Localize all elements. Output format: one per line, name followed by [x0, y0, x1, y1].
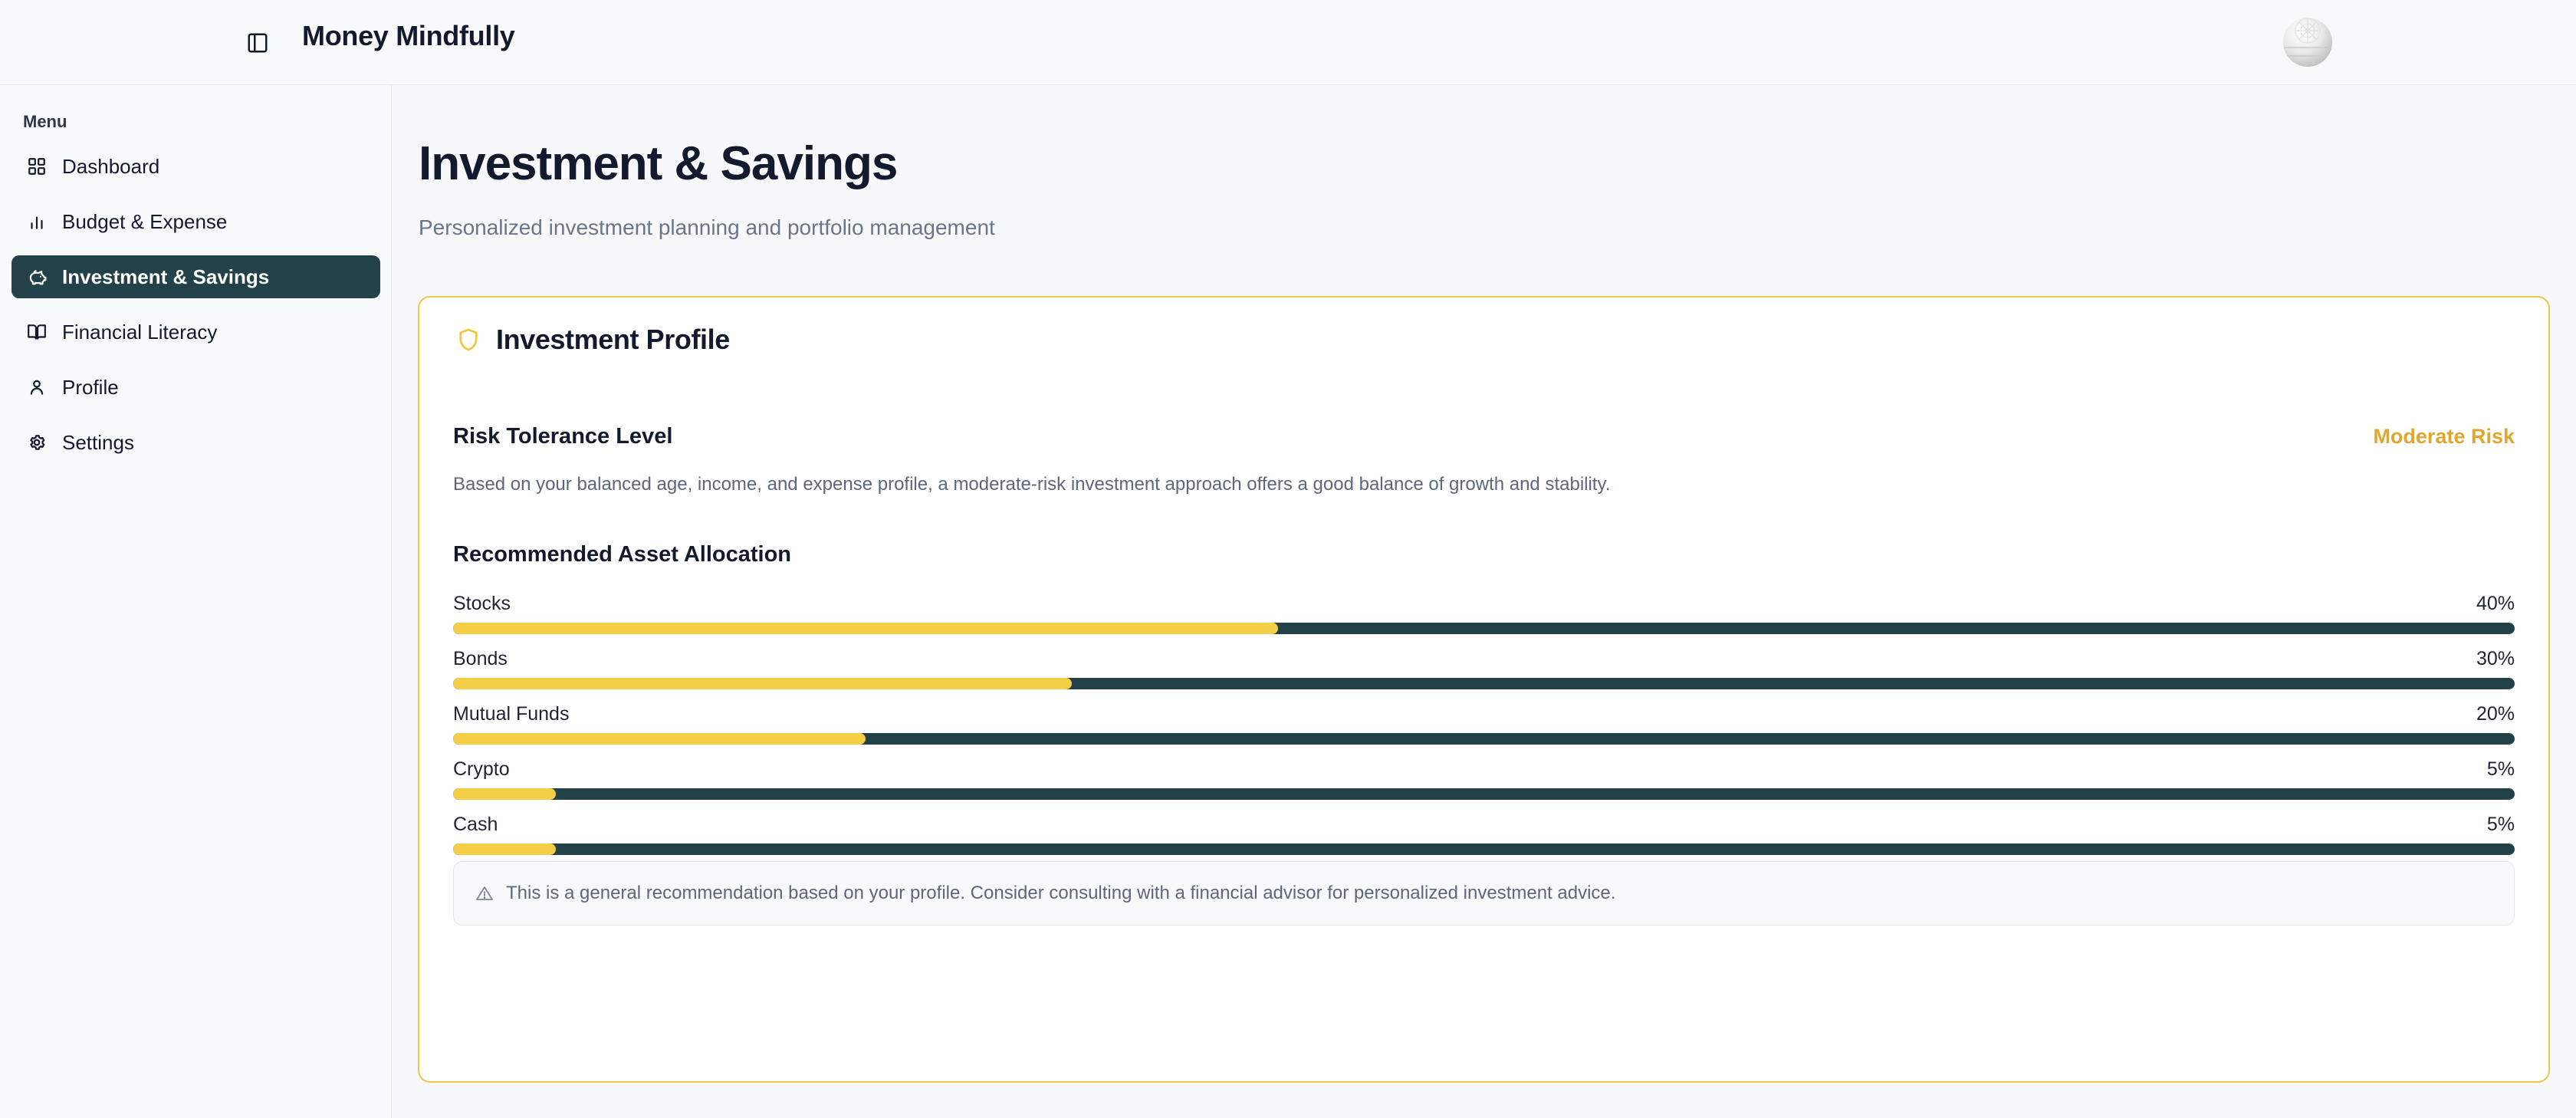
allocation-progress-fill — [453, 843, 556, 855]
allocation-progress-track — [453, 788, 2515, 800]
allocation-percent-label: 30% — [2476, 648, 2515, 670]
sidebar-item-label: Financial Literacy — [62, 321, 217, 344]
allocation-percent-label: 5% — [2487, 814, 2515, 836]
sidebar-item-settings[interactable]: Settings — [11, 421, 380, 464]
allocation-asset-label: Bonds — [453, 648, 508, 670]
card-header: Investment Profile — [453, 324, 730, 356]
allocation-progress-fill — [453, 623, 1278, 634]
allocation-percent-label: 5% — [2487, 758, 2515, 781]
allocation-percent-label: 20% — [2476, 703, 2515, 725]
page-title: Investment & Savings — [419, 136, 897, 191]
allocation-row: Bonds30% — [453, 648, 2515, 689]
app-title: Money Mindfully — [302, 20, 515, 52]
allocation-row-header: Bonds30% — [453, 648, 2515, 670]
status-badge: Moderate Risk — [2373, 425, 2515, 449]
allocation-row-header: Stocks40% — [453, 593, 2515, 615]
allocation-progress-fill — [453, 733, 866, 745]
risk-tolerance-label: Risk Tolerance Level — [453, 424, 672, 449]
allocation-row-header: Mutual Funds20% — [453, 703, 2515, 725]
gear-icon — [24, 429, 50, 455]
sidebar-item-investment-savings[interactable]: Investment & Savings — [11, 255, 380, 298]
user-icon — [24, 374, 50, 400]
allocation-progress-track — [453, 843, 2515, 855]
allocation-progress-track — [453, 678, 2515, 689]
main-content: Investment & Savings Personalized invest… — [392, 85, 2576, 1118]
sidebar-section-label: Menu — [23, 112, 67, 132]
allocation-row-header: Cash5% — [453, 814, 2515, 836]
allocation-progress-track — [453, 623, 2515, 634]
allocation-section-title: Recommended Asset Allocation — [453, 542, 791, 567]
allocation-asset-label: Crypto — [453, 758, 510, 781]
allocation-row: Stocks40% — [453, 593, 2515, 634]
sidebar-nav: Dashboard Budget & Expense Investment & … — [0, 145, 392, 476]
grid-icon — [24, 153, 50, 179]
sidebar-item-label: Investment & Savings — [62, 265, 269, 289]
sidebar-item-budget-expense[interactable]: Budget & Expense — [11, 200, 380, 243]
piggy-bank-icon — [24, 264, 50, 290]
allocation-asset-label: Cash — [453, 814, 498, 836]
avatar[interactable] — [2273, 8, 2342, 77]
allocation-progress-fill — [453, 788, 556, 800]
card-title: Investment Profile — [496, 324, 730, 356]
page-subtitle: Personalized investment planning and por… — [419, 215, 995, 240]
sidebar-item-profile[interactable]: Profile — [11, 366, 380, 409]
disclaimer-text: This is a general recommendation based o… — [506, 883, 1615, 904]
allocation-asset-label: Stocks — [453, 593, 511, 615]
shield-icon — [453, 324, 484, 355]
sidebar-item-label: Settings — [62, 431, 134, 455]
asset-allocation-list: Stocks40%Bonds30%Mutual Funds20%Crypto5%… — [453, 593, 2515, 869]
sidebar-toggle-icon[interactable] — [244, 29, 271, 57]
allocation-progress-track — [453, 733, 2515, 745]
sidebar-item-label: Dashboard — [62, 155, 159, 179]
sidebar-item-financial-literacy[interactable]: Financial Literacy — [11, 311, 380, 353]
bar-chart-icon — [24, 209, 50, 235]
allocation-row: Mutual Funds20% — [453, 703, 2515, 745]
sidebar-item-dashboard[interactable]: Dashboard — [11, 145, 380, 188]
book-open-icon — [24, 319, 50, 345]
allocation-row: Cash5% — [453, 814, 2515, 855]
allocation-row-header: Crypto5% — [453, 758, 2515, 781]
top-header-bar: Money Mindfully — [0, 0, 2576, 85]
risk-tolerance-row: Risk Tolerance Level Moderate Risk — [453, 424, 2515, 449]
warning-triangle-icon — [474, 883, 495, 904]
sidebar-item-label: Profile — [62, 376, 119, 400]
investment-profile-card: Investment Profile Risk Tolerance Level … — [418, 296, 2550, 1083]
allocation-percent-label: 40% — [2476, 593, 2515, 615]
sidebar: Menu Dashboard Budget & Expense — [0, 85, 392, 1118]
risk-description: Based on your balanced age, income, and … — [453, 474, 1610, 495]
sidebar-item-label: Budget & Expense — [62, 210, 227, 234]
allocation-progress-fill — [453, 678, 1072, 689]
allocation-row: Crypto5% — [453, 758, 2515, 800]
allocation-asset-label: Mutual Funds — [453, 703, 569, 725]
disclaimer-note: This is a general recommendation based o… — [453, 861, 2515, 926]
